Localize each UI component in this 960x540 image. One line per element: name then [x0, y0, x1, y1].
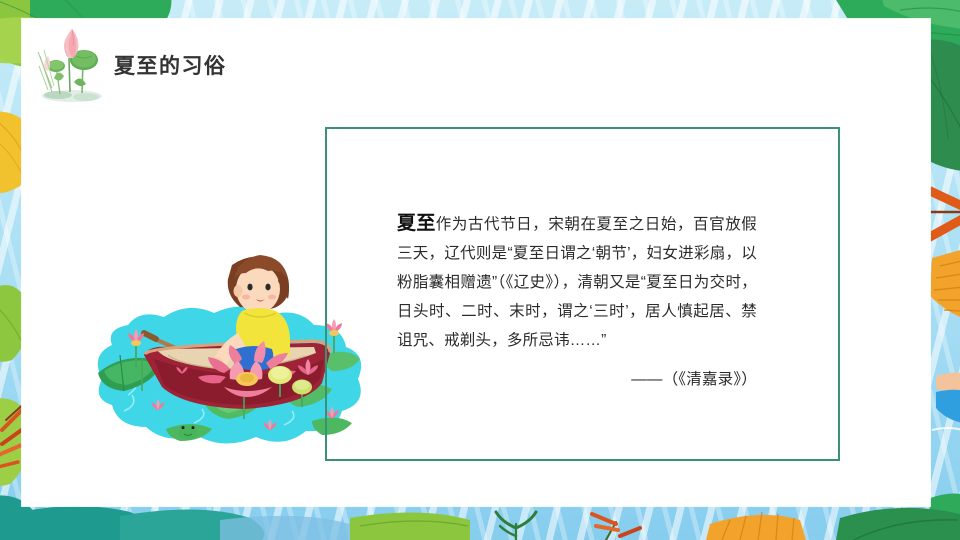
quote-body: 作为古代节日，宋朝在夏至之日始，百官放假三天，辽代则是“夏至日谓之‘朝节’，妇女…	[397, 216, 757, 349]
quote-lead: 夏至	[397, 213, 436, 234]
slide-header: 夏至的习俗	[36, 24, 227, 106]
frog-icon	[178, 425, 198, 440]
content-card: 夏至的习俗	[22, 19, 930, 506]
quote-paragraph: 夏至作为古代节日，宋朝在夏至之日始，百官放假三天，辽代则是“夏至日谓之‘朝节’，…	[397, 209, 757, 355]
lotus-plant-illustration-icon	[36, 26, 108, 104]
quote-box: 夏至作为古代节日，宋朝在夏至之日始，百官放假三天，辽代则是“夏至日谓之‘朝节’，…	[325, 127, 840, 461]
page-title: 夏至的习俗	[114, 50, 227, 80]
slide-root: 夏至的习俗	[0, 0, 960, 540]
quote-inner: 夏至作为古代节日，宋朝在夏至之日始，百官放假三天，辽代则是“夏至日谓之‘朝节’，…	[397, 209, 757, 389]
quote-source: ——（《清嘉录》）	[397, 367, 757, 389]
